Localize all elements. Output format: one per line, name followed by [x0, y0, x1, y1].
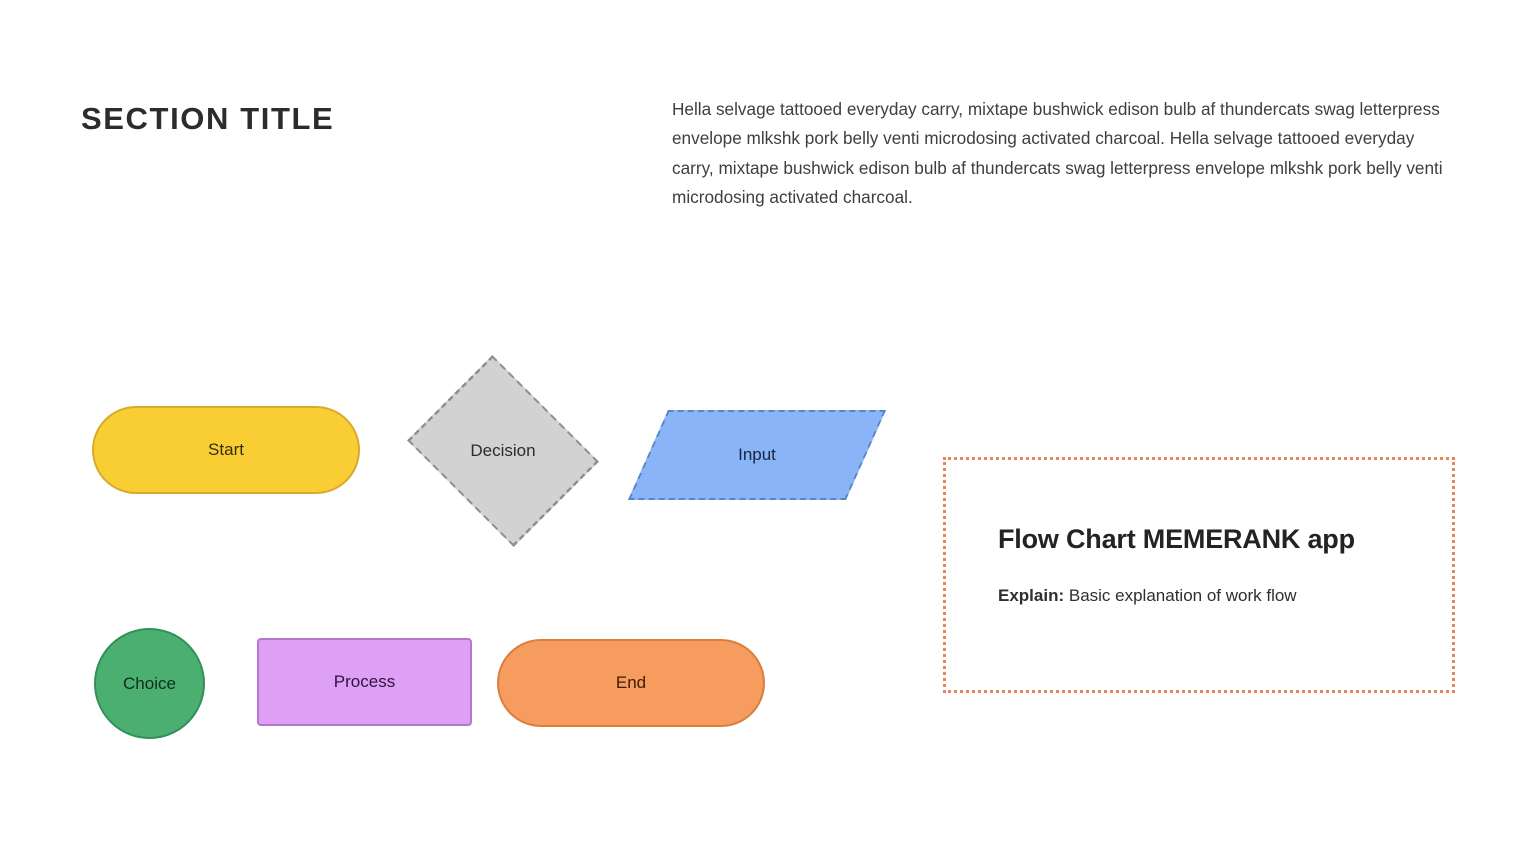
parallelogram-shape-body — [628, 410, 886, 500]
annotation-callout: Flow Chart MEMERANK app Explain: Basic e… — [943, 457, 1455, 693]
flowchart-shape-start[interactable]: Start — [92, 406, 360, 494]
annotation-title: Flow Chart MEMERANK app — [998, 522, 1452, 556]
annotation-explain-text: Basic explanation of work flow — [1069, 586, 1297, 605]
slide-canvas: SECTION TITLE Hella selvage tattooed eve… — [0, 0, 1536, 864]
body-paragraph: Hella selvage tattooed everyday carry, m… — [672, 95, 1450, 212]
flowchart-shape-input[interactable]: Input — [648, 410, 866, 500]
flowchart-shape-end[interactable]: End — [497, 639, 765, 727]
shape-label-choice: Choice — [123, 674, 176, 694]
annotation-explain-label: Explain: — [998, 586, 1064, 605]
flowchart-shape-process[interactable]: Process — [257, 638, 472, 726]
shape-label-start: Start — [208, 440, 244, 460]
shape-label-process: Process — [334, 672, 395, 692]
flowchart-shape-choice[interactable]: Choice — [94, 628, 205, 739]
annotation-explain-line: Explain: Basic explanation of work flow — [998, 584, 1452, 608]
shape-label-end: End — [616, 673, 646, 693]
flowchart-shape-decision[interactable]: Decision — [395, 365, 611, 537]
page-title: SECTION TITLE — [81, 97, 334, 141]
diamond-shape-body — [407, 355, 599, 547]
